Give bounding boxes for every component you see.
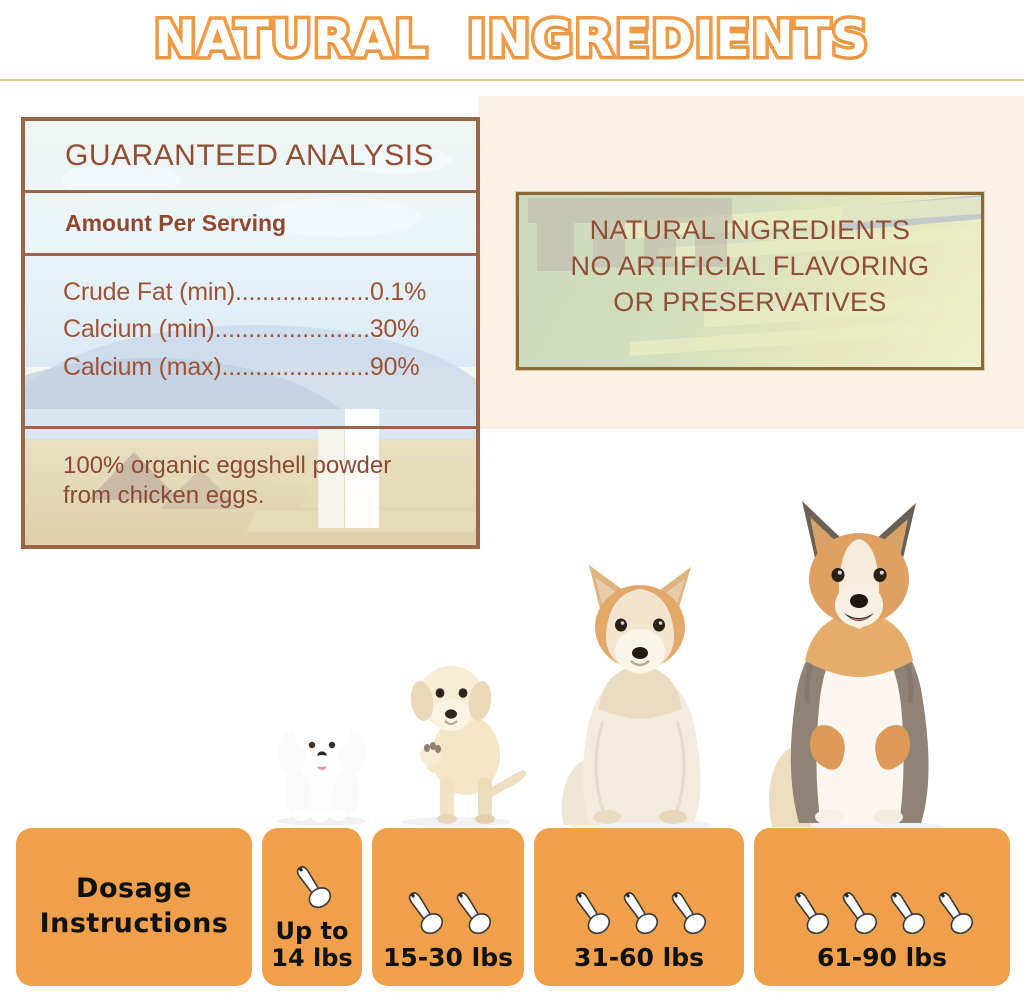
analysis-row-calcium-max: Calcium (max)......................90% (63, 349, 476, 386)
dosage-box-up-to-14: Up to 14 lbs (262, 828, 362, 986)
dosage-instructions-row: Dosage Instructions Up to 14 lbs (0, 828, 1024, 988)
dosage-weight-label: 15-30 lbs (383, 944, 513, 986)
spoon-icon (787, 884, 833, 940)
spoon-icon (835, 884, 881, 940)
natural-ingredients-line-3: OR PRESERVATIVES (519, 285, 981, 321)
page-title-banner: NATURAL INGREDIENTS (0, 0, 1024, 78)
dosage-weight-label: 61-90 lbs (817, 944, 947, 986)
spoon-icon (883, 884, 929, 940)
analysis-note-row: 100% organic eggshell powder from chicke… (25, 429, 476, 511)
spoon-icon (401, 884, 447, 940)
dosage-box-61-90: 61-90 lbs (754, 828, 1010, 986)
analysis-row-crude-fat: Crude Fat (min)....................0.1% (63, 274, 476, 311)
spoon-icon-group (568, 878, 710, 940)
small-white-poodle-image (262, 675, 382, 825)
sheltie-dog-image (752, 483, 967, 833)
header-divider (0, 79, 1024, 81)
dosage-title-box: Dosage Instructions (16, 828, 252, 986)
spoon-icon-group (787, 878, 977, 940)
spoon-icon (568, 884, 614, 940)
analysis-subheading-row: Amount Per Serving (25, 193, 476, 256)
analysis-note-line-1: 100% organic eggshell powder (63, 451, 476, 481)
natural-ingredients-line-1: NATURAL INGREDIENTS (519, 213, 981, 249)
spoon-icon (616, 884, 662, 940)
analysis-row-calcium-min: Calcium (min).......................30% (63, 311, 476, 348)
spoon-icon (664, 884, 710, 940)
dosage-weight-label: Up to 14 lbs (271, 918, 352, 986)
spoon-icon-group (401, 878, 495, 940)
guaranteed-analysis-card: GUARANTEED ANALYSIS Amount Per Serving C… (21, 117, 480, 549)
dosage-weight-label: 31-60 lbs (574, 944, 704, 986)
dosage-box-15-30: 15-30 lbs (372, 828, 524, 986)
natural-ingredients-line-2: NO ARTIFICIAL FLAVORING (519, 249, 981, 285)
spoon-icon (289, 858, 335, 914)
analysis-heading-row: GUARANTEED ANALYSIS (25, 121, 476, 193)
spoon-icon-group (289, 852, 335, 914)
dosage-box-31-60: 31-60 lbs (534, 828, 744, 986)
spitz-dog-image (545, 541, 735, 831)
page-title: NATURAL INGREDIENTS (154, 10, 870, 68)
spoon-icon (449, 884, 495, 940)
analysis-values-list: Crude Fat (min)....................0.1% … (25, 256, 476, 429)
analysis-subheading: Amount Per Serving (65, 210, 286, 237)
spoon-icon (931, 884, 977, 940)
analysis-heading: GUARANTEED ANALYSIS (65, 139, 434, 173)
natural-ingredients-card: NATURAL INGREDIENTS NO ARTIFICIAL FLAVOR… (516, 192, 984, 370)
infographic-page: NATURAL INGREDIENTS GUARANTEED ANALYSIS (0, 0, 1024, 993)
analysis-note-line-2: from chicken eggs. (63, 481, 476, 511)
labrador-puppy-image (378, 627, 533, 827)
dosage-title: Dosage Instructions (40, 872, 229, 941)
